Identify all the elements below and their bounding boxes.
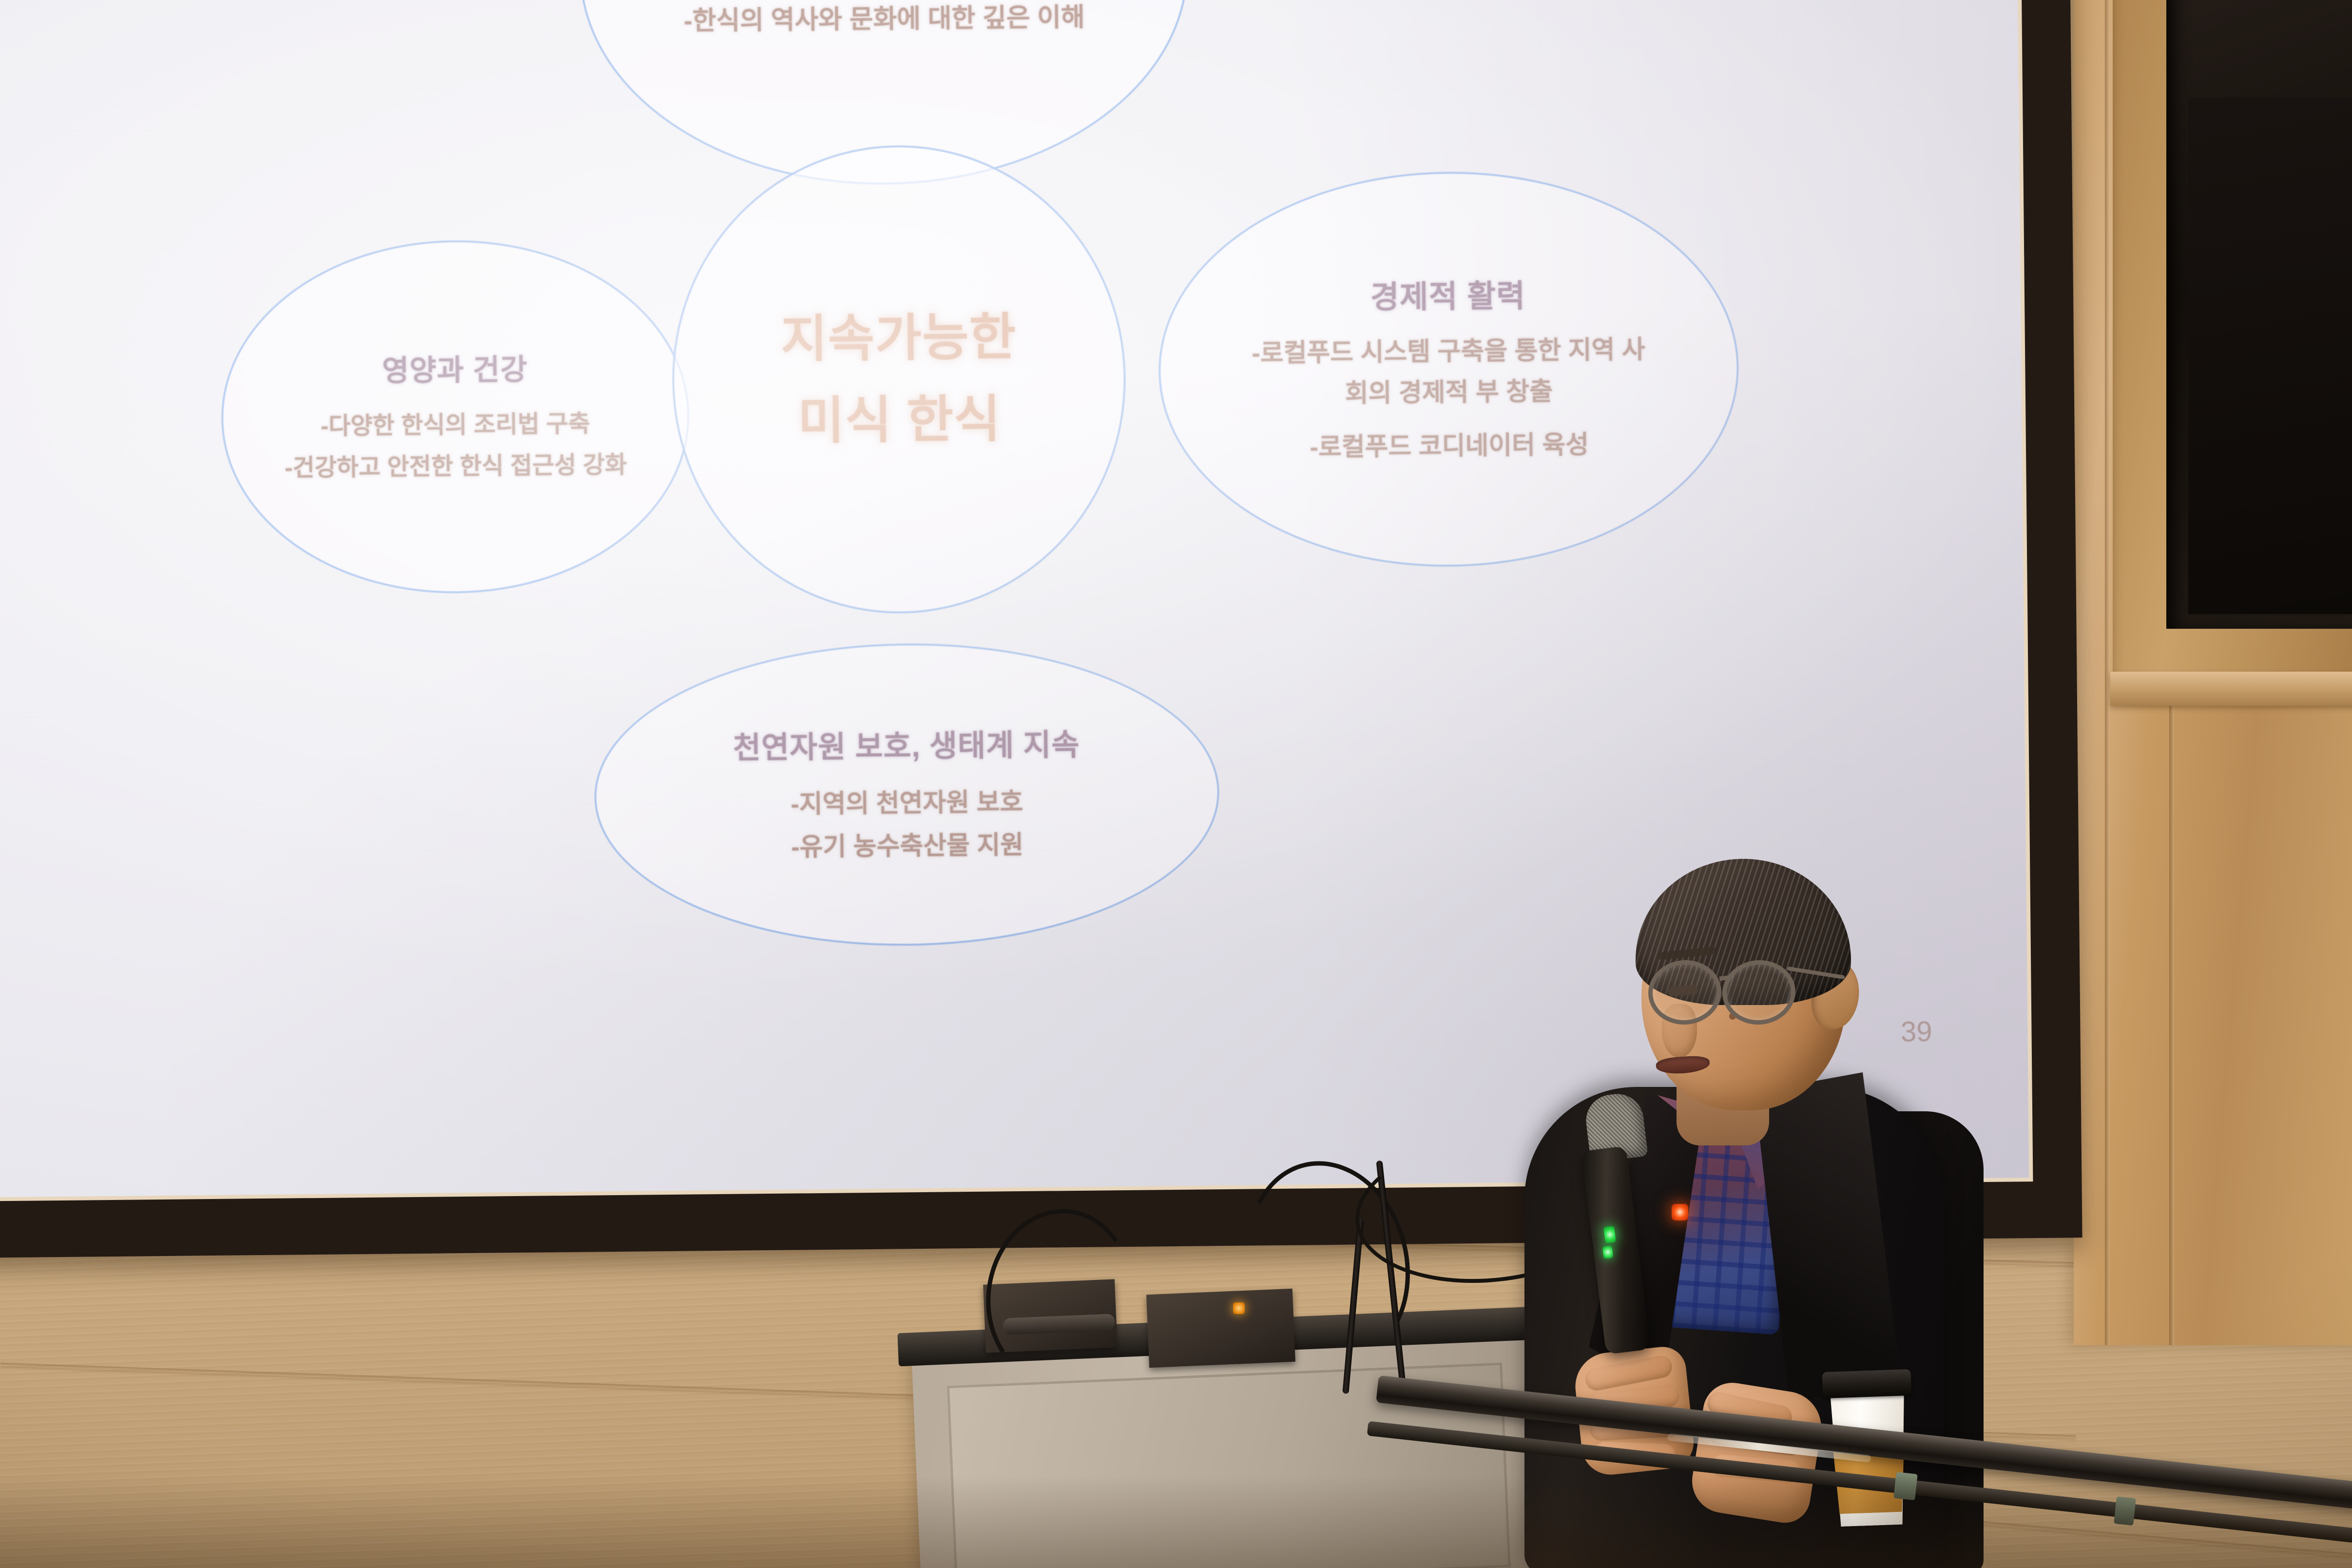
- ellipse-right-line-1: -로컬푸드 시스템 구축을 통한 지역 사: [1252, 329, 1645, 374]
- microphone-status-led-red: [1672, 1204, 1688, 1220]
- ellipse-left-line-1: -다양한 한식의 조리법 구축: [320, 404, 590, 447]
- microphone-status-led-green-secondary: [1602, 1245, 1613, 1259]
- lecture-hall-scene: 사회적 책임 -지역사회 참여 강화와 윤리적 책무 -한식의 역사와 문화에 …: [0, 0, 2352, 1568]
- niche-sill: [2110, 672, 2352, 706]
- equipment-power-led: [1233, 1302, 1245, 1314]
- column-groove: [2105, 0, 2110, 1345]
- ellipse-right-line-3: -로컬푸드 코디네이터 육성: [1310, 425, 1589, 468]
- slide-ellipse-nutrition-health: 영양과 건강 -다양한 한식의 조리법 구축 -건강하고 안전한 한식 접근성 …: [220, 238, 691, 596]
- ellipse-bottom-line-2: -유기 농수축산물 지원: [791, 824, 1024, 869]
- center-heading-line-2: 미식 한식: [797, 378, 1001, 462]
- ellipse-left-title: 영양과 건강: [382, 346, 528, 390]
- slide-ellipse-economic-vitality: 경제적 활력 -로컬푸드 시스템 구축을 통한 지역 사 회의 경제적 부 창출…: [1157, 169, 1741, 569]
- ellipse-top-line-2: -한식의 역사와 문화에 대한 깊은 이해: [684, 0, 1085, 42]
- slide-ellipse-center-sustainable-gastronomy: 지속가능한 미식 한식: [670, 143, 1128, 616]
- podium-equipment-box-right: [1146, 1289, 1295, 1368]
- ellipse-right-title: 경제적 활력: [1370, 271, 1525, 317]
- dark-recessed-window-inner: [2188, 97, 2352, 614]
- slide-ellipse-natural-resources: 천연자원 보호, 생태계 지속 -지역의 천연자원 보호 -유기 농수축산물 지…: [593, 640, 1221, 949]
- microphone-status-led-green: [1603, 1226, 1616, 1243]
- ellipse-right-line-2: 회의 경제적 부 창출: [1345, 371, 1553, 414]
- ellipse-bottom-line-1: -지역의 천연자원 보호: [790, 781, 1023, 826]
- ellipse-bottom-title: 천연자원 보호, 생태계 지속: [733, 719, 1080, 767]
- rail-bracket: [1893, 1472, 1918, 1500]
- ellipse-left-line-2: -건강하고 안전한 한식 접근성 강화: [285, 444, 627, 488]
- cup-lid: [1822, 1369, 1912, 1398]
- center-heading-line-1: 지속가능한: [780, 296, 1017, 381]
- rail-bracket: [2114, 1496, 2136, 1526]
